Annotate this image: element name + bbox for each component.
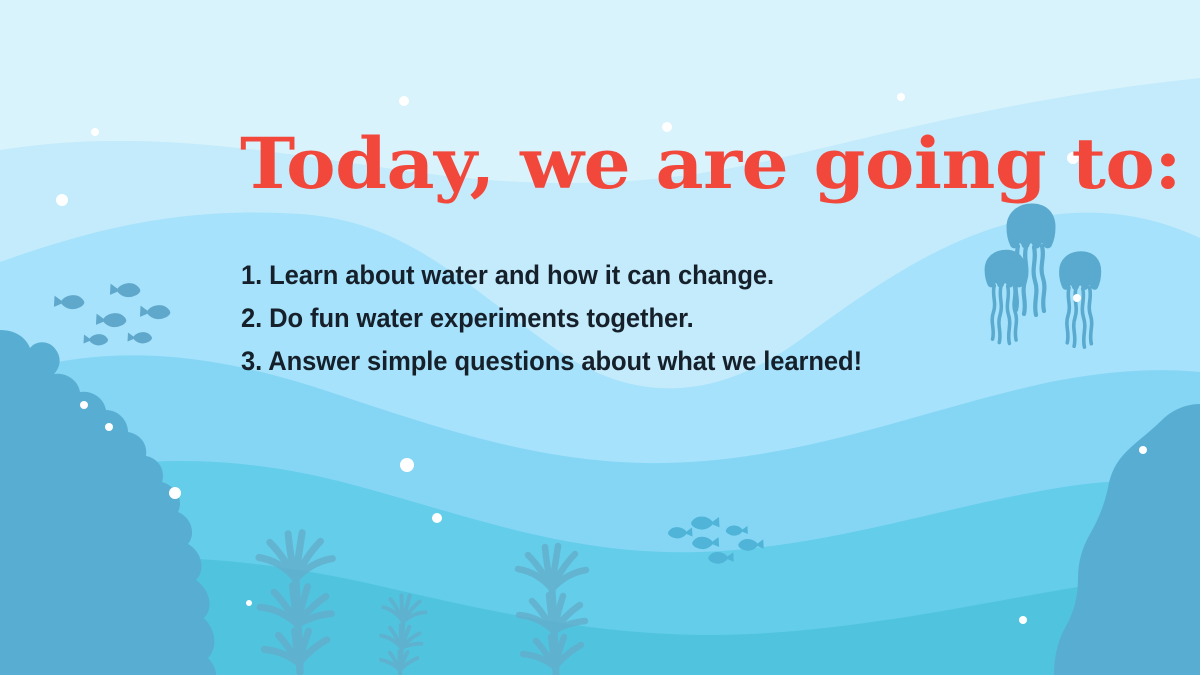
slide-content: Today, we are going to: 1. Learn about w…	[0, 0, 1200, 675]
list-item: 2. Do fun water experiments together.	[241, 297, 878, 340]
list-item: 1. Learn about water and how it can chan…	[241, 254, 878, 297]
slide-canvas: Today, we are going to: 1. Learn about w…	[0, 0, 1200, 675]
page-title: Today, we are going to:	[240, 128, 1046, 199]
list-item: 3. Answer simple questions about what we…	[241, 340, 878, 383]
agenda-list: 1. Learn about water and how it can chan…	[241, 254, 878, 383]
